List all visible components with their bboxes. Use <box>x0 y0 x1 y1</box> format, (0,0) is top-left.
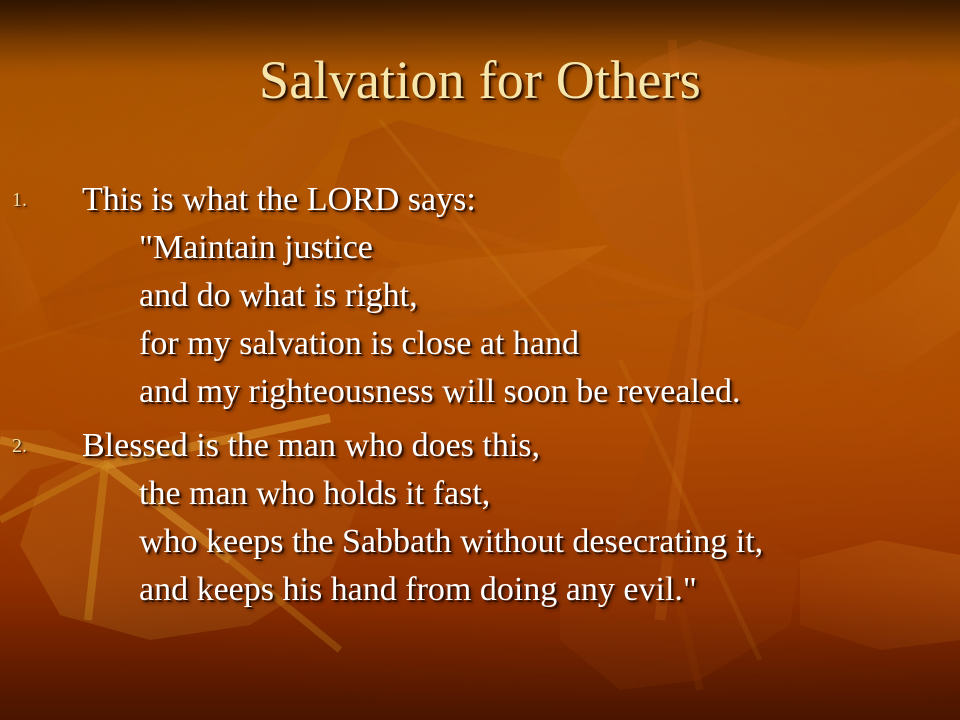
body-line: This is what the LORD says: <box>82 176 960 224</box>
list-item: 2. Blessed is the man who does this, the… <box>0 422 960 614</box>
list-item-lines: This is what the LORD says: "Maintain ju… <box>82 176 960 416</box>
list-item-marker: 2. <box>12 436 68 456</box>
body-line: "Maintain justice <box>139 224 960 272</box>
body-line: who keeps the Sabbath without desecratin… <box>139 518 960 566</box>
presentation-slide: Salvation for Others 1. This is what the… <box>0 0 960 720</box>
slide-title: Salvation for Others <box>0 50 960 110</box>
slide-body-list: 1. This is what the LORD says: "Maintain… <box>0 176 960 620</box>
body-line: Blessed is the man who does this, <box>82 422 960 470</box>
list-item-marker: 1. <box>12 190 68 210</box>
body-line: for my salvation is close at hand <box>139 320 960 368</box>
body-line: and do what is right, <box>139 272 960 320</box>
body-line: and keeps his hand from doing any evil." <box>139 566 960 614</box>
body-line: the man who holds it fast, <box>139 470 960 518</box>
list-item: 1. This is what the LORD says: "Maintain… <box>0 176 960 416</box>
list-item-lines: Blessed is the man who does this, the ma… <box>82 422 960 614</box>
body-line: and my righteousness will soon be reveal… <box>139 368 960 416</box>
